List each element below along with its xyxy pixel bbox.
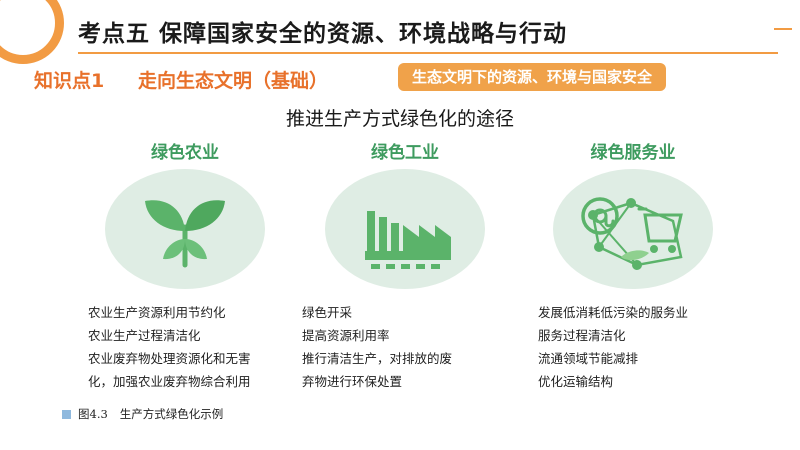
topic-badge: 生态文明下的资源、环境与国家安全	[398, 63, 666, 91]
figure-caption: 图4.3 生产方式绿色化示例	[62, 406, 223, 422]
bullet-item: 优化运输结构	[538, 370, 748, 393]
illustration-green-agriculture	[105, 169, 265, 289]
header-divider	[78, 52, 778, 54]
bullet-item: 提高资源利用率	[302, 324, 477, 347]
bullet-item: 推行清洁生产，对排放的废 弃物进行环保处置	[302, 347, 477, 393]
column-title: 绿色工业	[280, 138, 530, 163]
column-title: 绿色服务业	[508, 138, 758, 163]
bullet-item: 农业废弃物处理资源化和无害 化，加强农业废弃物综合利用	[88, 347, 298, 393]
column-title: 绿色农业	[60, 138, 310, 163]
knowledge-point-title: 走向生态文明（基础）	[138, 66, 328, 93]
service-network-icon	[553, 169, 713, 289]
decorative-arc-icon	[0, 0, 64, 64]
caption-marker-icon	[62, 410, 71, 419]
page-title: 考点五 保障国家安全的资源、环境战略与行动	[78, 14, 567, 48]
knowledge-point-label: 知识点1	[34, 66, 104, 93]
sprout-leaf-icon	[105, 169, 265, 289]
bullet-item: 农业生产过程清洁化	[88, 324, 298, 347]
bullet-item: 绿色开采	[302, 301, 477, 324]
column-green-industry: 绿色工业 绿色开采 提高资源利用率 推行清洁生产，对排放的废 弃物进行环保处置	[280, 138, 530, 394]
section-heading: 推进生产方式绿色化的途径	[0, 104, 800, 131]
column-green-agriculture: 绿色农业 农业生产资源利用节约化 农业生产过程清洁化 农业废弃物处理资源化和无害…	[60, 138, 310, 394]
illustration-green-industry	[325, 169, 485, 289]
bullet-item: 农业生产资源利用节约化	[88, 301, 298, 324]
column-green-services: 绿色服务业 发展低消耗低污染的服务业 服务过程清洁化	[508, 138, 758, 394]
subtitle-row: 知识点1 走向生态文明（基础） 生态文明下的资源、环境与国家安全	[0, 62, 800, 94]
bullet-item: 发展低消耗低污染的服务业	[538, 301, 748, 324]
illustration-green-services	[553, 169, 713, 289]
header-dash-accent	[774, 28, 792, 30]
bullet-list: 绿色开采 提高资源利用率 推行清洁生产，对排放的废 弃物进行环保处置	[302, 301, 477, 394]
page-header: 考点五 保障国家安全的资源、环境战略与行动	[0, 0, 800, 62]
figure-number: 图4.3	[78, 406, 108, 422]
figure-caption-text: 生产方式绿色化示例	[120, 406, 224, 422]
bullet-list: 农业生产资源利用节约化 农业生产过程清洁化 农业废弃物处理资源化和无害 化，加强…	[88, 301, 298, 394]
bullet-list: 发展低消耗低污染的服务业 服务过程清洁化 流通领域节能减排 优化运输结构	[538, 301, 748, 394]
bullet-item: 服务过程清洁化	[538, 324, 748, 347]
factory-icon	[325, 169, 485, 289]
bullet-item: 流通领域节能减排	[538, 347, 748, 370]
